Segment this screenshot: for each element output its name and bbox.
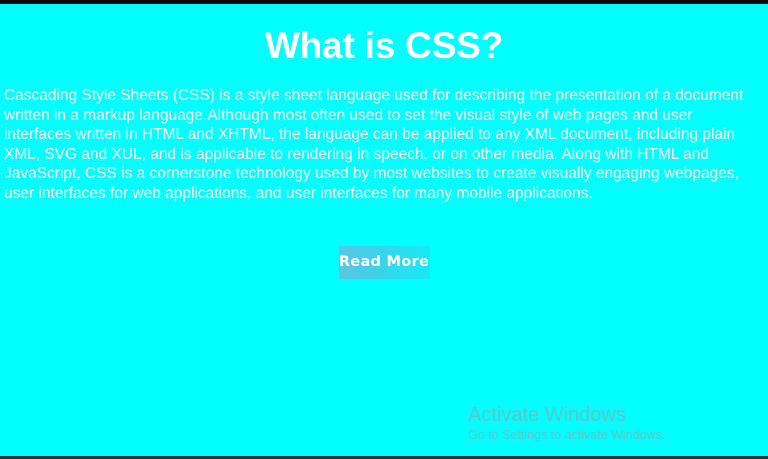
intro-paragraph: Cascading Style Sheets (CSS) is a style … [4, 86, 760, 204]
read-more-button[interactable]: Read More [339, 246, 430, 279]
page-title: What is CSS? [0, 27, 768, 64]
cta-container: Read More [0, 246, 768, 279]
watermark-subtitle: Go to Settings to activate Windows. [468, 427, 718, 443]
page-root: What is CSS? Cascading Style Sheets (CSS… [0, 0, 768, 459]
page-content: What is CSS? Cascading Style Sheets (CSS… [0, 4, 768, 456]
windows-activation-watermark: Activate Windows Go to Settings to activ… [468, 403, 718, 443]
watermark-title: Activate Windows [468, 403, 718, 427]
